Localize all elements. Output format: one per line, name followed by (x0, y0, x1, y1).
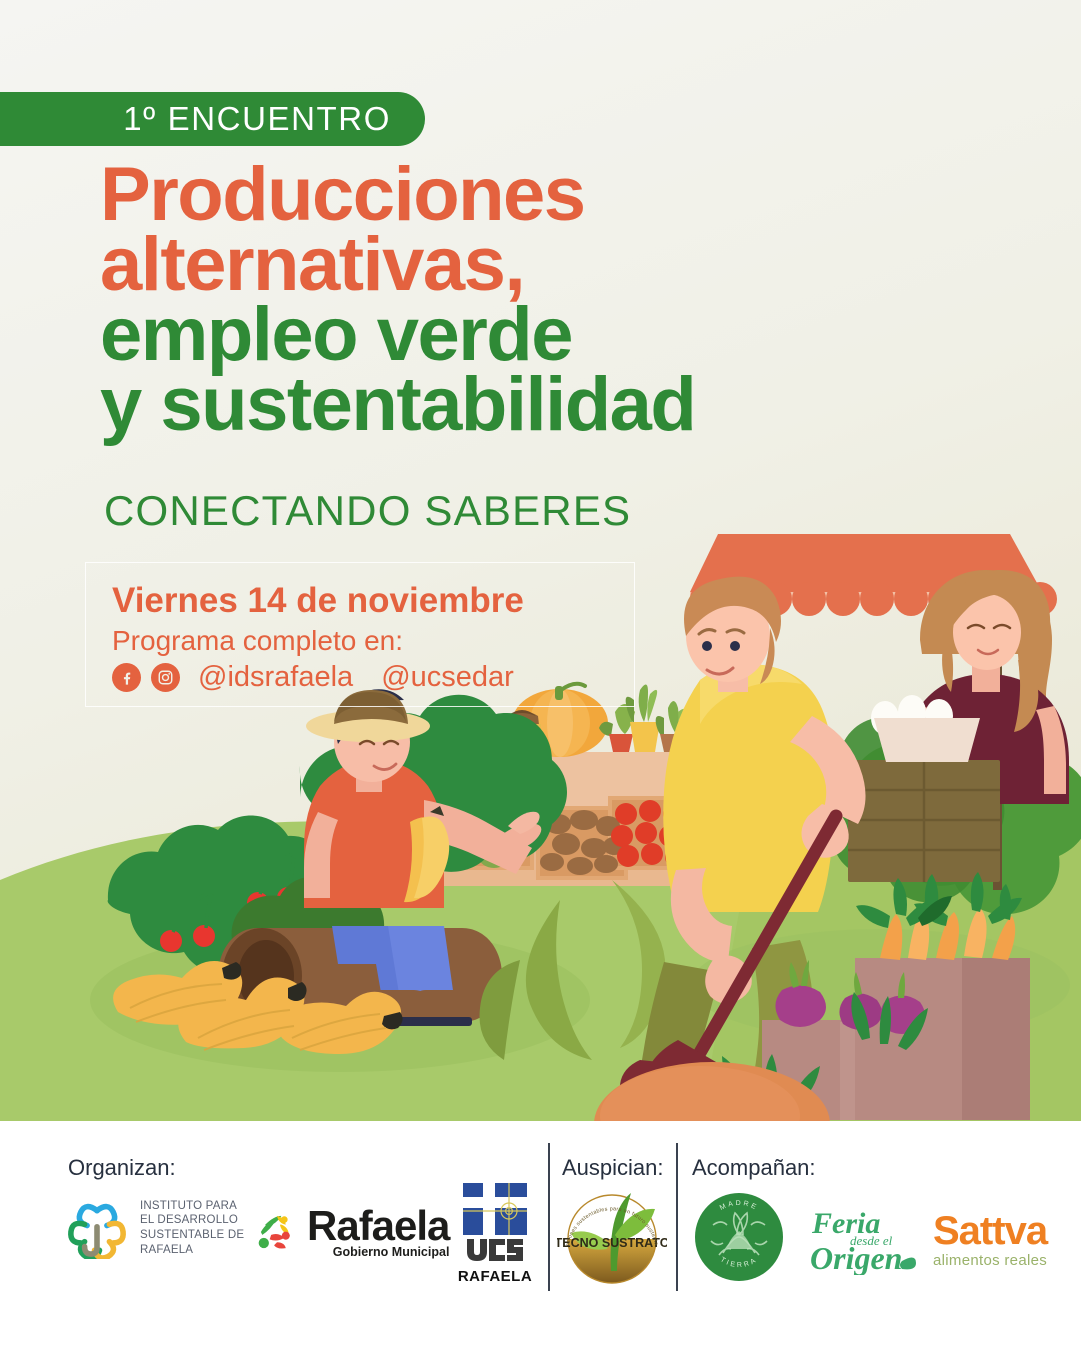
ids-logo-text: INSTITUTO PARA EL DESARROLLO SUSTENTABLE… (140, 1199, 244, 1258)
feria-origen-icon: Feria desde el Origen (806, 1203, 918, 1275)
organizan-label: Organizan: (68, 1155, 176, 1181)
logo-feria-desde-el-origen: Feria desde el Origen (806, 1203, 918, 1280)
ids-line-4: RAFAELA (140, 1243, 244, 1258)
logo-tecno-sustrato: TECNO SUSTRATO soluciones sustentables p… (557, 1185, 667, 1294)
badge-label: 1º ENCUENTRO (123, 100, 391, 138)
poster: 1º ENCUENTRO Producciones alternativas, … (0, 0, 1081, 1351)
feria-word-3: Origen (810, 1240, 902, 1275)
footer-sponsors: Organizan: Auspician: Acompañan: INSTITU… (0, 1121, 1081, 1351)
ids-line-1: INSTITUTO PARA (140, 1199, 244, 1214)
headline-subtitle: CONECTANDO SABERES (104, 487, 631, 535)
sattva-subtitle: alimentos reales (933, 1252, 1047, 1269)
tecno-sustrato-word: TECNO SUSTRATO (557, 1236, 667, 1250)
headline-line-3: empleo verde (100, 300, 860, 370)
ucse-subtitle: RAFAELA (455, 1268, 535, 1285)
logo-ids-rafaela: INSTITUTO PARA EL DESARROLLO SUSTENTABLE… (66, 1197, 244, 1259)
event-date: Viernes 14 de noviembre (112, 581, 634, 621)
ids-line-2: EL DESARROLLO (140, 1213, 244, 1228)
program-label: Programa completo en: (112, 625, 634, 657)
sattva-wordmark: Sattva (933, 1211, 1047, 1251)
social-handles: @idsrafaela @ucsedar (112, 661, 634, 694)
headline-line-1: Producciones (100, 160, 860, 230)
instagram-icon[interactable] (151, 663, 180, 692)
logo-sattva: Sattva alimentos reales (933, 1211, 1047, 1269)
ids-flower-icon (66, 1197, 128, 1259)
headline-line-4: y sustentabilidad (100, 370, 860, 440)
auspician-label: Auspician: (562, 1155, 664, 1181)
logo-rafaela-municipal: Rafaela Gobierno Municipal (255, 1205, 449, 1259)
divider-right (676, 1143, 678, 1291)
handle-idsrafaela[interactable]: @idsrafaela (198, 661, 353, 694)
rafaela-people-icon (255, 1210, 299, 1254)
event-info-box: Viernes 14 de noviembre Programa complet… (85, 562, 635, 707)
hero-section: 1º ENCUENTRO Producciones alternativas, … (0, 0, 1081, 1121)
logo-madre-tierra: MADRE TIERRA (693, 1191, 785, 1288)
encuentro-badge: 1º ENCUENTRO (0, 92, 425, 146)
tecno-sustrato-icon: TECNO SUSTRATO soluciones sustentables p… (557, 1185, 667, 1289)
headline-line-2: alternativas, (100, 230, 860, 300)
ids-line-3: SUSTENTABLE DE (140, 1228, 244, 1243)
madre-tierra-icon: MADRE TIERRA (693, 1191, 785, 1283)
logo-ucse-rafaela: RAFAELA (455, 1183, 535, 1285)
divider-left (548, 1143, 550, 1291)
page-title: Producciones alternativas, empleo verde … (100, 160, 860, 440)
handle-ucsedar[interactable]: @ucsedar (381, 661, 514, 694)
rafaela-wordmark: Rafaela (307, 1205, 449, 1247)
acompanan-label: Acompañan: (692, 1155, 816, 1181)
facebook-icon[interactable] (112, 663, 141, 692)
ucse-shield-icon (459, 1183, 531, 1261)
